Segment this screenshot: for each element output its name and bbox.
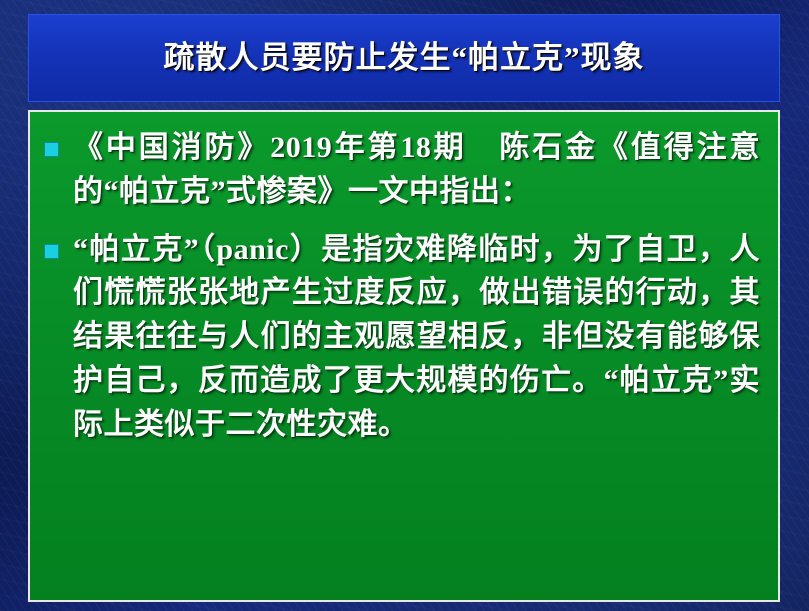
bullet-text-2: “帕立克”（panic）是指灾难降临时，为了自卫，人们慌慌张张地产生过度反应，做… bbox=[73, 228, 760, 447]
list-item: “帕立克”（panic）是指灾难降临时，为了自卫，人们慌慌张张地产生过度反应，做… bbox=[44, 228, 760, 447]
slide-title: 疏散人员要防止发生“帕立克”现象 bbox=[164, 38, 645, 79]
slide-body-box: 《中国消防》2019年第18期 陈石金《值得注意的“帕立克”式惨案》一文中指出：… bbox=[28, 110, 780, 602]
list-item: 《中国消防》2019年第18期 陈石金《值得注意的“帕立克”式惨案》一文中指出： bbox=[44, 126, 760, 214]
slide-title-box: 疏散人员要防止发生“帕立克”现象 bbox=[28, 14, 780, 102]
square-bullet-icon bbox=[44, 244, 59, 259]
bullet-text-1: 《中国消防》2019年第18期 陈石金《值得注意的“帕立克”式惨案》一文中指出： bbox=[73, 126, 760, 214]
square-bullet-icon bbox=[44, 142, 59, 157]
slide-canvas: 疏散人员要防止发生“帕立克”现象 《中国消防》2019年第18期 陈石金《值得注… bbox=[0, 0, 809, 611]
